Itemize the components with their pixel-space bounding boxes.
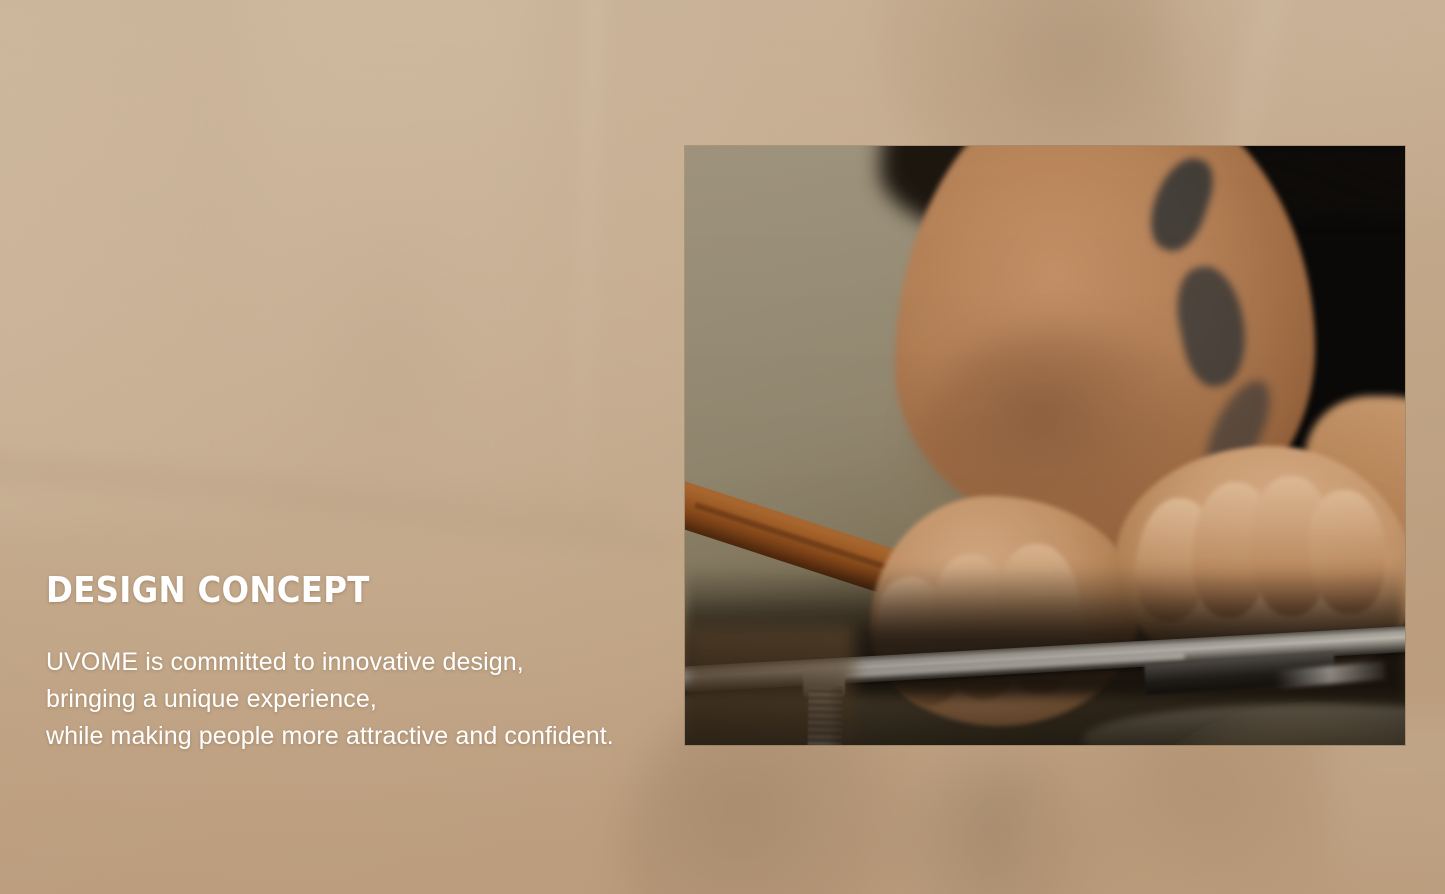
body-copy: UVOME is committed to innovative design,… xyxy=(46,644,666,755)
body-copy-line: bringing a unique experience, xyxy=(46,681,666,718)
body-copy-line: UVOME is committed to innovative design, xyxy=(46,644,666,681)
photo-color-grade xyxy=(685,146,1405,745)
design-concept-banner: DESIGN CONCEPT UVOME is committed to inn… xyxy=(0,0,1445,894)
page-title: DESIGN CONCEPT xyxy=(46,572,666,610)
text-block: DESIGN CONCEPT UVOME is committed to inn… xyxy=(46,572,666,755)
photo-content xyxy=(685,146,1405,745)
workshop-grinding-photo xyxy=(685,146,1405,745)
body-copy-line: while making people more attractive and … xyxy=(46,718,666,755)
